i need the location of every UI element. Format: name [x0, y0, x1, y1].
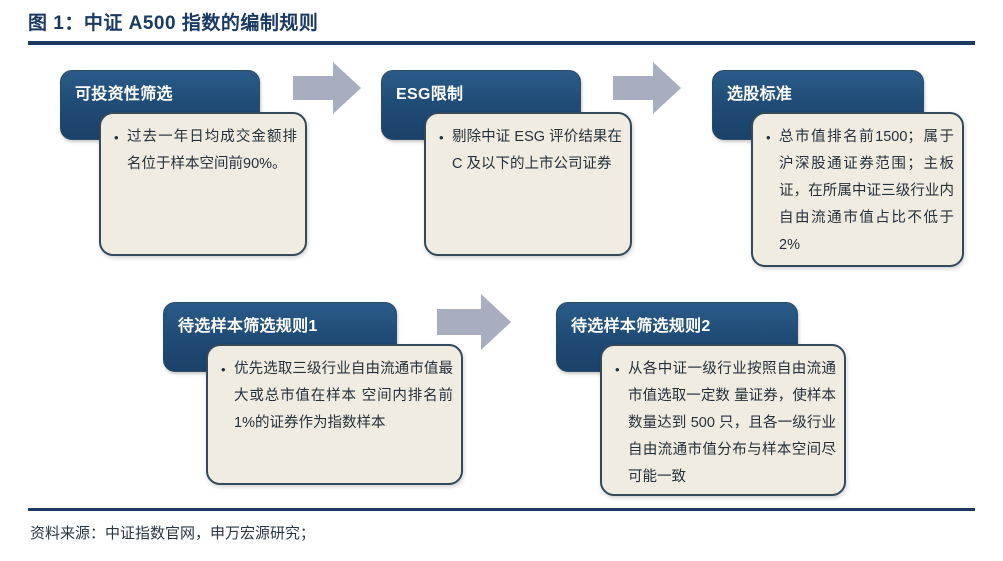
arrow-1-to-2-icon — [293, 62, 361, 114]
card-header-label: ESG限制 — [396, 80, 463, 104]
card-body-esg-restriction[interactable]: 剔除中证 ESG 评价结果在 C 及以下的上市公司证券 — [424, 112, 632, 256]
card-body-text: 剔除中证 ESG 评价结果在 C 及以下的上市公司证券 — [439, 124, 622, 178]
card-body-text: 总市值排名前1500；属于沪深股通证券范围；主板证，在所属中证三级行业内自由流通… — [766, 124, 954, 259]
footer-divider — [28, 508, 975, 511]
source-note: 资料来源：中证指数官网，申万宏源研究； — [30, 522, 315, 543]
flow-diagram: 可投资性筛选 过去一年日均成交金额排名位于样本空间前90%。 ESG限制 剔除中… — [0, 0, 1003, 561]
card-body-text-wrapper: 优先选取三级行业自由流通市值最大或总市值在样本 空间内排名前 1%的证券作为指数… — [221, 356, 453, 437]
card-body-text-wrapper: 剔除中证 ESG 评价结果在 C 及以下的上市公司证券 — [439, 124, 622, 178]
card-body-candidate-sample-rule-2[interactable]: 从各中证一级行业按照自由流通市值选取一定数 量证券，使样本数量达到 500 只，… — [600, 344, 846, 496]
card-body-text: 过去一年日均成交金额排名位于样本空间前90%。 — [114, 124, 297, 178]
arrow-2-to-3-icon — [613, 62, 681, 114]
card-body-text-wrapper: 总市值排名前1500；属于沪深股通证券范围；主板证，在所属中证三级行业内自由流通… — [766, 124, 954, 259]
card-header-label: 选股标准 — [727, 80, 792, 104]
card-body-text-wrapper: 从各中证一级行业按照自由流通市值选取一定数 量证券，使样本数量达到 500 只，… — [615, 356, 836, 491]
card-body-stock-selection-criteria[interactable]: 总市值排名前1500；属于沪深股通证券范围；主板证，在所属中证三级行业内自由流通… — [751, 112, 964, 267]
card-body-investability-screen[interactable]: 过去一年日均成交金额排名位于样本空间前90%。 — [99, 112, 307, 256]
card-body-text-wrapper: 过去一年日均成交金额排名位于样本空间前90%。 — [114, 124, 297, 178]
card-body-text: 优先选取三级行业自由流通市值最大或总市值在样本 空间内排名前 1%的证券作为指数… — [221, 356, 453, 437]
card-body-text: 从各中证一级行业按照自由流通市值选取一定数 量证券，使样本数量达到 500 只，… — [615, 356, 836, 491]
card-header-label: 待选样本筛选规则1 — [178, 312, 318, 336]
arrow-4-to-5-icon — [437, 294, 511, 350]
card-header-label: 可投资性筛选 — [75, 80, 173, 104]
card-body-candidate-sample-rule-1[interactable]: 优先选取三级行业自由流通市值最大或总市值在样本 空间内排名前 1%的证券作为指数… — [206, 344, 463, 485]
card-header-label: 待选样本筛选规则2 — [571, 312, 711, 336]
